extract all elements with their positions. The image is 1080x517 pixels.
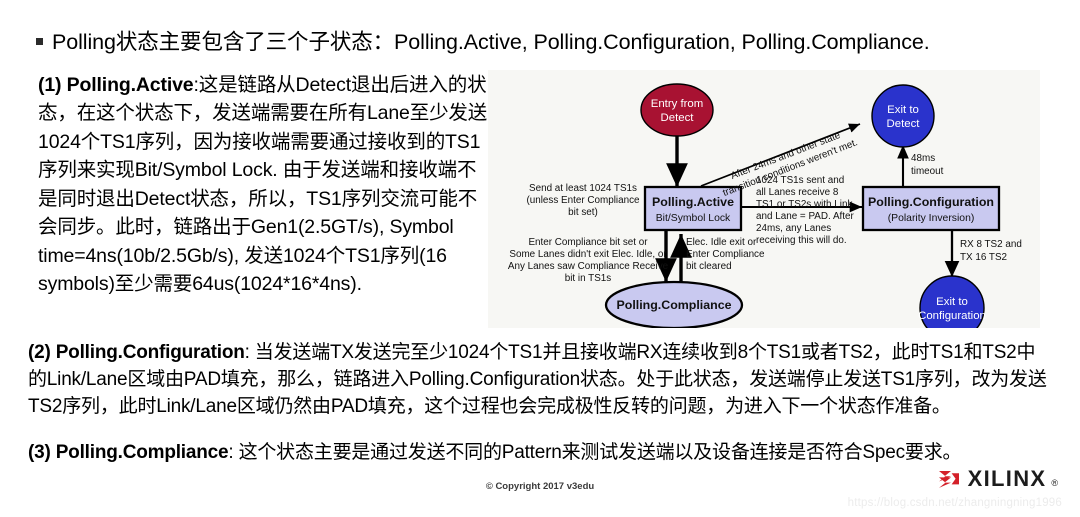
svg-text:all Lanes receive 8: all Lanes receive 8 <box>756 187 839 198</box>
svg-text:and Lane = PAD. After: and Lane = PAD. After <box>756 211 855 222</box>
source-watermark: https://blog.csdn.net/zhangningning1996 <box>848 497 1062 509</box>
svg-text:bit cleared: bit cleared <box>686 261 732 272</box>
exit-to-detect-line2: Detect <box>887 118 921 130</box>
polling-state-diagram: Entry from Detect Exit to Detect Polling… <box>488 70 1040 328</box>
svg-text:bit set): bit set) <box>568 207 598 218</box>
svg-text:Some Lanes didn't exit Elec. I: Some Lanes didn't exit Elec. Idle, or <box>509 249 667 260</box>
square-bullet-icon <box>36 38 43 45</box>
svg-text:Send at least 1024 TS1s: Send at least 1024 TS1s <box>529 183 637 194</box>
paragraph-polling-configuration: (2) Polling.Configuration: 当发送端TX发送完至少10… <box>28 340 1052 421</box>
entry-from-detect-line2: Detect <box>661 112 695 124</box>
xilinx-logo: XILINX ® <box>938 466 1058 492</box>
node-exit-to-configuration: Exit to Configuration <box>918 276 986 328</box>
polling-active-subtitle: Bit/Symbol Lock <box>656 213 731 224</box>
svg-text:receiving this will do.: receiving this will do. <box>756 235 847 246</box>
svg-text:Enter Compliance bit set or: Enter Compliance bit set or <box>528 237 648 248</box>
paragraph-polling-compliance: (3) Polling.Compliance: 这个状态主要是通过发送不同的Pa… <box>28 440 1052 467</box>
edge-label-48ms-timeout: 48ms timeout <box>911 153 944 177</box>
svg-text:Enter Compliance: Enter Compliance <box>686 249 765 260</box>
paragraph-active-lead: (1) Polling.Active <box>38 74 194 96</box>
bullet-line: Polling状态主要包含了三个子状态：Polling.Active, Poll… <box>36 30 1056 55</box>
svg-text:24ms, any Lanes: 24ms, any Lanes <box>756 223 831 234</box>
polling-configuration-title: Polling.Configuration <box>868 195 994 209</box>
xilinx-registered-mark: ® <box>1051 478 1058 492</box>
node-exit-to-detect: Exit to Detect <box>872 85 934 147</box>
copyright-notice: © Copyright 2017 v3edu <box>0 481 1080 492</box>
node-entry-from-detect: Entry from Detect <box>641 84 713 136</box>
paragraph-polling-active: (1) Polling.Active:这是链路从Detect退出后进入的状态，在… <box>38 71 490 299</box>
paragraph-active-body: :这是链路从Detect退出后进入的状态，在这个状态下，发送端需要在所有Lane… <box>38 74 487 295</box>
bullet-text: Polling状态主要包含了三个子状态：Polling.Active, Poll… <box>52 30 930 55</box>
svg-text:1024 TS1s sent and: 1024 TS1s sent and <box>756 175 844 186</box>
edge-label-rx-tx-ts2: RX 8 TS2 and TX 16 TS2 <box>960 239 1022 263</box>
svg-text:RX 8 TS2 and: RX 8 TS2 and <box>960 239 1022 250</box>
svg-text:48ms: 48ms <box>911 153 935 164</box>
paragraph-compliance-body: : 这个状态主要是通过发送不同的Pattern来测试发送端以及设备连接是否符合S… <box>228 442 961 463</box>
polling-configuration-subtitle: (Polarity Inversion) <box>888 213 975 224</box>
svg-text:(unless Enter Compliance: (unless Enter Compliance <box>526 195 640 206</box>
svg-text:Any Lanes saw Compliance Recei: Any Lanes saw Compliance Receive <box>508 261 669 272</box>
entry-from-detect-line1: Entry from <box>651 98 704 110</box>
svg-text:bit in TS1s: bit in TS1s <box>565 273 612 284</box>
svg-text:Elec. Idle exit or: Elec. Idle exit or <box>686 237 757 248</box>
exit-to-detect-line1: Exit to <box>887 104 919 116</box>
node-polling-configuration: Polling.Configuration (Polarity Inversio… <box>863 187 999 230</box>
polling-active-title: Polling.Active <box>652 195 734 209</box>
svg-text:TX 16 TS2: TX 16 TS2 <box>960 252 1007 263</box>
xilinx-wordmark: XILINX <box>968 466 1047 492</box>
polling-compliance-title: Polling.Compliance <box>617 298 732 312</box>
svg-text:timeout: timeout <box>911 166 944 177</box>
edge-label-ts1s-sent: 1024 TS1s sent and all Lanes receive 8 T… <box>756 175 855 246</box>
svg-text:TS1 or TS2s with Link: TS1 or TS2s with Link <box>756 199 852 210</box>
edge-label-enter-compliance: Enter Compliance bit set or Some Lanes d… <box>508 237 669 284</box>
xilinx-mark-icon <box>938 469 960 489</box>
edge-label-send-1024: Send at least 1024 TS1s (unless Enter Co… <box>526 183 640 218</box>
node-polling-compliance: Polling.Compliance <box>606 282 742 328</box>
exit-to-configuration-line1: Exit to <box>936 296 968 308</box>
paragraph-compliance-lead: (3) Polling.Compliance <box>28 442 228 463</box>
edge-label-elec-idle-exit: Elec. Idle exit or Enter Compliance bit … <box>686 237 765 272</box>
paragraph-configuration-lead: (2) Polling.Configuration <box>28 342 245 363</box>
exit-to-configuration-line2: Configuration <box>918 310 986 322</box>
